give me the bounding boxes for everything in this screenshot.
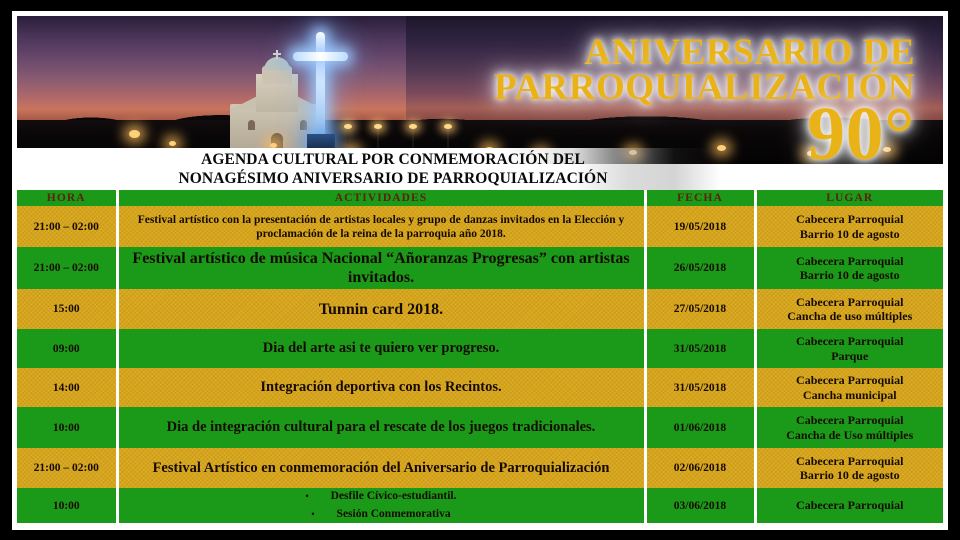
lugar-line-1: Cabecera Parroquial (757, 373, 944, 388)
lugar-line-2: Cancha municipal (757, 388, 944, 403)
cell-hora: 21:00 – 02:00 (17, 206, 117, 247)
cell-fecha: 19/05/2018 (645, 206, 755, 247)
lugar-line-1: Cabecera Parroquial (757, 212, 944, 227)
hora-value: 14:00 (17, 382, 116, 394)
fecha-value: 27/05/2018 (647, 303, 754, 315)
table-row: 14:00 Integración deportiva con los Reci… (17, 368, 943, 407)
church-window (248, 120, 255, 130)
lugar-line-1: Cabecera Parroquial (757, 334, 944, 349)
cell-lugar: Cabecera Parroquial Cancha municipal (755, 368, 943, 407)
lugar-line-1: Cabecera Parroquial (757, 413, 944, 428)
actividad-value: Festival artístico con la presentación d… (119, 213, 644, 241)
fecha-value: 26/05/2018 (647, 262, 754, 274)
cell-lugar: Cabecera Parroquial Cancha de uso múltip… (755, 289, 943, 329)
cell-actividad: Desfile Cívico-estudiantil. Sesión Conme… (117, 488, 645, 523)
cell-actividad: Integración deportiva con los Recintos. (117, 368, 645, 407)
cell-fecha: 31/05/2018 (645, 368, 755, 407)
street-lamp (412, 128, 414, 150)
table-row: 10:00 Dia de integración cultural para e… (17, 407, 943, 448)
cell-lugar: Cabecera Parroquial (755, 488, 943, 523)
actividad-value: Integración deportiva con los Recintos. (119, 379, 644, 396)
lugar-line-2: Barrio 10 de agosto (757, 468, 944, 483)
lugar-line-2: Cancha de uso múltiples (757, 309, 944, 324)
lugar-line-1: Cabecera Parroquial (757, 254, 944, 269)
actividad-bullet-item: Sesión Conmemorativa (123, 506, 640, 523)
light-glow (129, 130, 140, 138)
street-lamp (377, 128, 379, 150)
cell-hora: 09:00 (17, 329, 117, 368)
cell-fecha: 26/05/2018 (645, 247, 755, 289)
actividad-value: Dia de integración cultural para el resc… (119, 419, 644, 436)
light-glow (169, 141, 176, 146)
cell-fecha: 02/06/2018 (645, 448, 755, 488)
poster-headline: ANIVERSARIO DE PARROQUIALIZACIÓN 90° (494, 36, 915, 164)
lugar-line-2: Barrio 10 de agosto (757, 268, 944, 283)
illuminated-cross-monument (289, 24, 351, 154)
lugar-line-2: Parque (757, 349, 944, 364)
cell-hora: 21:00 – 02:00 (17, 448, 117, 488)
church-cross-icon (276, 50, 278, 59)
table-row: 10:00 Desfile Cívico-estudiantil. Sesión… (17, 488, 943, 523)
table-header-row: HORA ACTIVIDADES FECHA LUGAR (17, 190, 943, 206)
agenda-title-line-2: NONAGÉSIMO ANIVERSARIO DE PARROQUIALIZAC… (113, 170, 673, 189)
hora-value: 21:00 – 02:00 (17, 262, 116, 274)
cell-actividad: Festival artístico con la presentación d… (117, 206, 645, 247)
table-row: 21:00 – 02:00 Festival Artístico en conm… (17, 448, 943, 488)
street-lamp (347, 128, 349, 150)
cell-hora: 21:00 – 02:00 (17, 247, 117, 289)
poster-canvas: ANIVERSARIO DE PARROQUIALIZACIÓN 90° AGE… (0, 0, 960, 540)
cross-vertical-beam (316, 32, 325, 150)
hora-value: 10:00 (17, 500, 116, 512)
table-row: 15:00 Tunnin card 2018. 27/05/2018 Cabec… (17, 289, 943, 329)
cell-actividad: Dia de integración cultural para el resc… (117, 407, 645, 448)
actividad-value: Festival Artístico en conmemoración del … (119, 460, 644, 477)
actividad-value: Tunnin card 2018. (119, 300, 644, 319)
cell-lugar: Cabecera Parroquial Cancha de Uso múltip… (755, 407, 943, 448)
cell-lugar: Cabecera Parroquial Barrio 10 de agosto (755, 206, 943, 247)
hora-value: 15:00 (17, 303, 116, 315)
cell-fecha: 31/05/2018 (645, 329, 755, 368)
column-header-hora: HORA (17, 190, 117, 206)
cell-lugar: Cabecera Parroquial Barrio 10 de agosto (755, 448, 943, 488)
lugar-line-1: Cabecera Parroquial (757, 498, 944, 513)
table-row: 21:00 – 02:00 Festival artístico de músi… (17, 247, 943, 289)
table-row: 21:00 – 02:00 Festival artístico con la … (17, 206, 943, 247)
hora-value: 21:00 – 02:00 (17, 221, 116, 233)
headline-line-1: ANIVERSARIO DE (494, 36, 915, 71)
street-lamp (447, 128, 449, 150)
cell-actividad: Tunnin card 2018. (117, 289, 645, 329)
cell-fecha: 27/05/2018 (645, 289, 755, 329)
fecha-value: 01/06/2018 (647, 422, 754, 434)
cell-hora: 10:00 (17, 488, 117, 523)
cell-hora: 14:00 (17, 368, 117, 407)
title-band: AGENDA CULTURAL POR CONMEMORACIÓN DEL NO… (17, 148, 943, 190)
cell-lugar: Cabecera Parroquial Parque (755, 329, 943, 368)
fecha-value: 02/06/2018 (647, 462, 754, 474)
cell-fecha: 03/06/2018 (645, 488, 755, 523)
actividad-value: Festival artístico de música Nacional “A… (119, 249, 644, 287)
cell-hora: 10:00 (17, 407, 117, 448)
lugar-line-1: Cabecera Parroquial (757, 454, 944, 469)
lugar-line-1: Cabecera Parroquial (757, 295, 944, 310)
hero-photo: ANIVERSARIO DE PARROQUIALIZACIÓN 90° (17, 16, 943, 164)
column-header-lugar: LUGAR (755, 190, 943, 206)
fecha-value: 31/05/2018 (647, 382, 754, 394)
column-header-fecha: FECHA (645, 190, 755, 206)
lugar-line-2: Barrio 10 de agosto (757, 227, 944, 242)
cell-actividad: Dia del arte asi te quiero ver progreso. (117, 329, 645, 368)
lugar-line-2: Cancha de Uso múltiples (757, 428, 944, 443)
cell-hora: 15:00 (17, 289, 117, 329)
cell-fecha: 01/06/2018 (645, 407, 755, 448)
actividad-value: Dia del arte asi te quiero ver progreso. (119, 340, 644, 357)
cell-lugar: Cabecera Parroquial Barrio 10 de agosto (755, 247, 943, 289)
fecha-value: 03/06/2018 (647, 500, 754, 512)
fecha-value: 31/05/2018 (647, 343, 754, 355)
hora-value: 09:00 (17, 343, 116, 355)
hora-value: 21:00 – 02:00 (17, 462, 116, 474)
agenda-title: AGENDA CULTURAL POR CONMEMORACIÓN DEL NO… (113, 151, 673, 188)
cell-actividad: Festival artístico de música Nacional “A… (117, 247, 645, 289)
cell-actividad: Festival Artístico en conmemoración del … (117, 448, 645, 488)
actividad-bullet-list: Desfile Cívico-estudiantil. Sesión Conme… (119, 488, 644, 522)
column-header-actividades: ACTIVIDADES (117, 190, 645, 206)
fecha-value: 19/05/2018 (647, 221, 754, 233)
agenda-title-line-1: AGENDA CULTURAL POR CONMEMORACIÓN DEL (113, 151, 673, 170)
table-row: 09:00 Dia del arte asi te quiero ver pro… (17, 329, 943, 368)
agenda-table: HORA ACTIVIDADES FECHA LUGAR 21:00 – 02:… (17, 190, 943, 523)
cross-horizontal-beam (293, 52, 348, 61)
actividad-bullet-item: Desfile Cívico-estudiantil. (123, 488, 640, 505)
hora-value: 10:00 (17, 422, 116, 434)
